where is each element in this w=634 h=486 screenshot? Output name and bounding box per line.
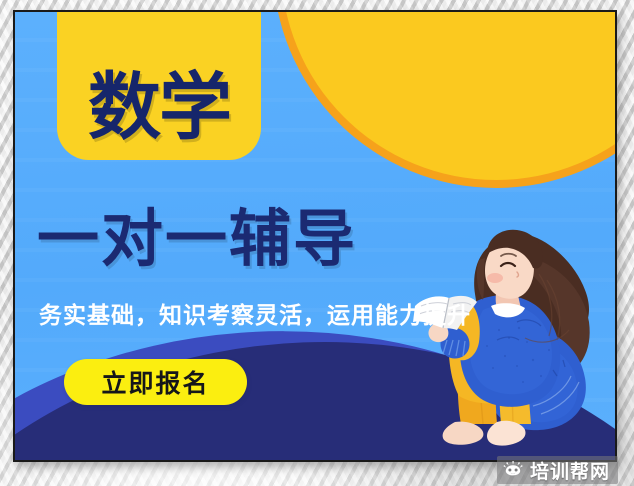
screenshot-canvas: 数学 一对一辅导 务实基础，知识考察灵活，运用能力提升 立即报名 — [0, 0, 634, 486]
girl-reading-book-illustration — [413, 210, 617, 460]
page-title: 一对一辅导 — [37, 208, 357, 270]
smiley-sun-icon — [503, 460, 523, 480]
subject-badge-label: 数学 — [88, 71, 230, 144]
poster-subtitle: 务实基础，知识考察灵活，运用能力提升 — [39, 304, 471, 329]
enroll-now-button-label: 立即报名 — [101, 364, 209, 400]
watermark: 培训帮网 — [497, 456, 618, 484]
watermark-label: 培训帮网 — [530, 457, 610, 484]
subject-badge: 数学 — [57, 10, 261, 160]
enroll-now-button[interactable]: 立即报名 — [64, 359, 247, 405]
math-tutoring-poster: 数学 一对一辅导 务实基础，知识考察灵活，运用能力提升 立即报名 — [13, 10, 617, 462]
